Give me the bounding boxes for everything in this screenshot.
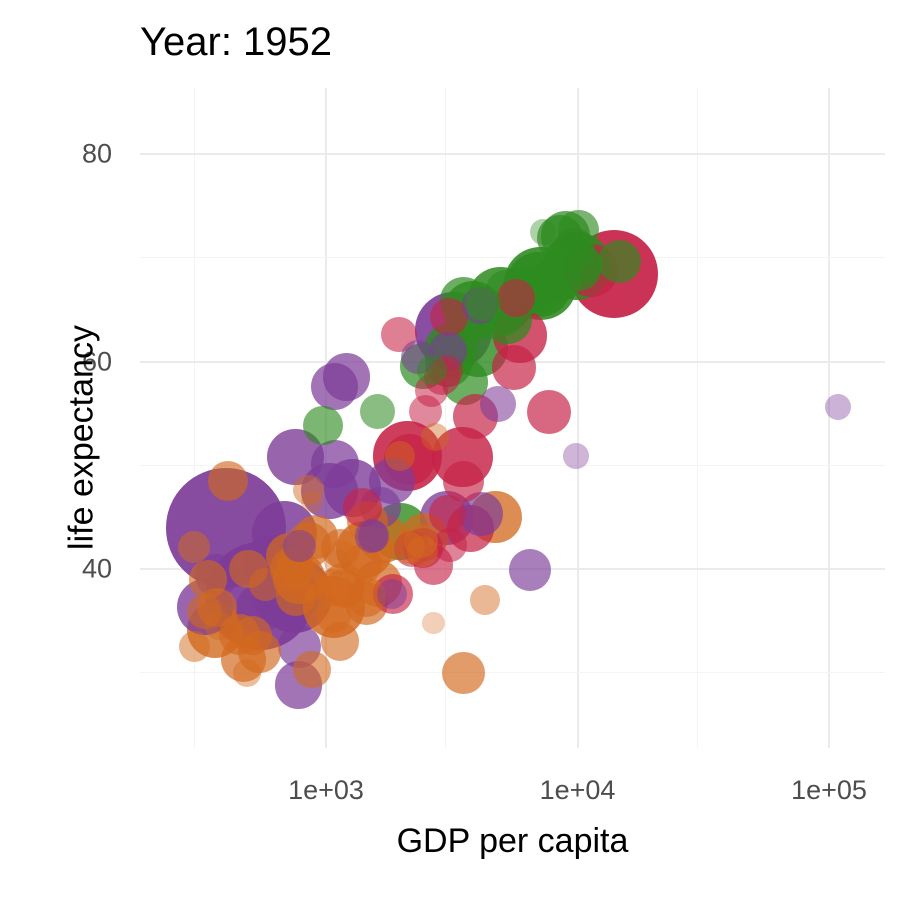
bubble-point: [825, 394, 851, 420]
bubble-point: [301, 491, 323, 513]
x-tick-label: 1e+03: [288, 775, 364, 806]
bubble-point: [492, 345, 537, 390]
bubble-point: [530, 219, 556, 245]
bubble-point: [527, 390, 571, 434]
bubble-point: [509, 549, 551, 591]
bubble-point: [417, 355, 447, 385]
bubble-point: [205, 612, 232, 639]
gridline-y-minor: [140, 465, 885, 466]
bubble-point: [565, 245, 602, 282]
x-axis-label: GDP per capita: [140, 822, 885, 861]
bubble-point: [311, 363, 358, 410]
bubble-point: [470, 585, 500, 615]
x-tick-label: 1e+05: [791, 775, 867, 806]
bubble-point: [179, 631, 210, 662]
bubble-point: [324, 549, 350, 575]
gridline-x-major: [828, 88, 830, 748]
bubble-point: [465, 286, 501, 322]
bubble-point: [407, 536, 437, 566]
gridline-x-minor: [697, 88, 698, 748]
bubble-point: [433, 528, 467, 562]
bubble-point: [208, 461, 248, 501]
plot-panel: [140, 88, 885, 748]
gridline-y-major: [140, 153, 885, 155]
bubble-point: [316, 598, 351, 633]
bubble-point: [233, 616, 272, 655]
bubble-point: [233, 659, 261, 687]
bubble-point: [558, 210, 598, 250]
bubble-chart-figure: Year: 1952 806040 1e+031e+041e+05 GDP pe…: [0, 0, 900, 900]
bubble-point: [422, 612, 445, 635]
gridline-x-major: [577, 88, 579, 748]
x-tick-label: 1e+04: [540, 775, 616, 806]
bubble-point: [293, 651, 331, 689]
bubble-point: [360, 394, 395, 429]
bubble-point: [358, 520, 389, 551]
y-axis-label: life expectancy: [63, 108, 102, 768]
bubble-point: [480, 386, 516, 422]
bubble-point: [563, 443, 588, 468]
bubble-point: [442, 652, 484, 694]
bubble-point: [303, 406, 342, 445]
page-title: Year: 1952: [140, 20, 332, 65]
bubble-point: [189, 560, 228, 599]
gridline-x-minor: [445, 88, 446, 748]
